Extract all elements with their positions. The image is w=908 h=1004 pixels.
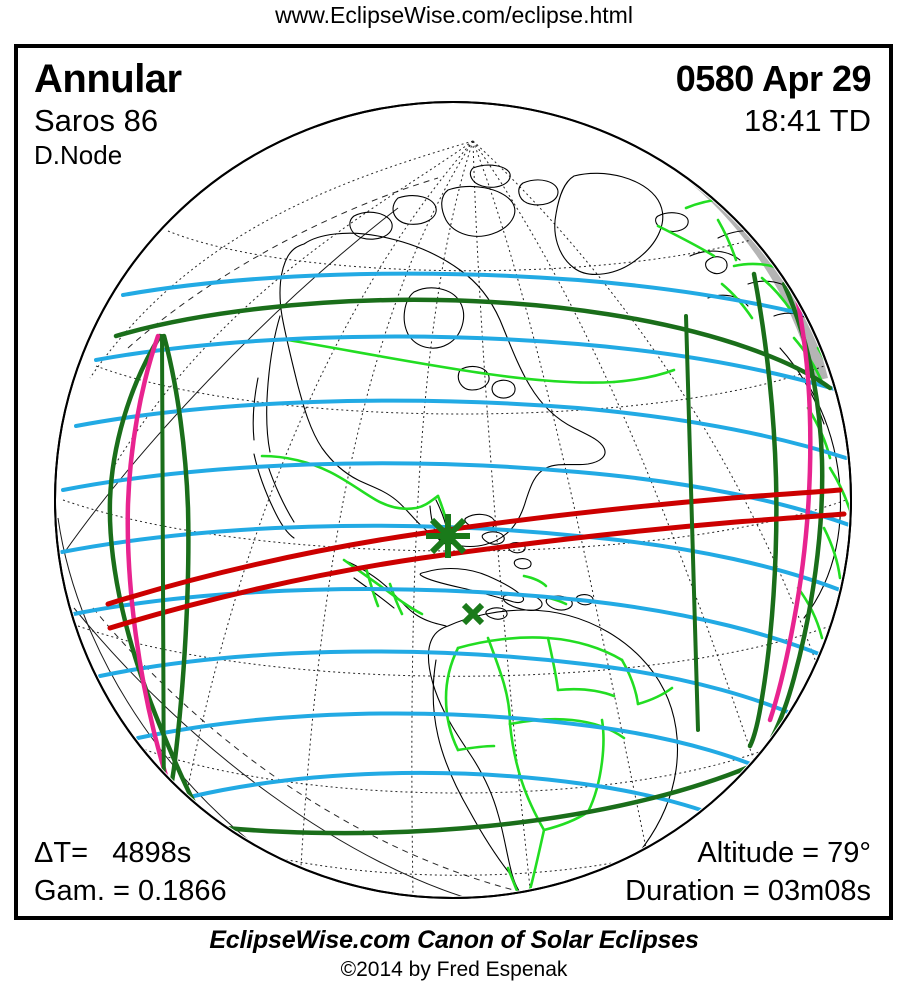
source-url-header: www.EclipseWise.com/eclipse.html: [0, 2, 908, 29]
globe-map: [18, 48, 889, 916]
footer-title: EclipseWise.com Canon of Solar Eclipses: [0, 926, 908, 955]
eclipse-date-label: 0580 Apr 29: [676, 56, 871, 102]
footer: EclipseWise.com Canon of Solar Eclipses …: [0, 926, 908, 982]
node-label: D.Node: [34, 139, 182, 172]
saros-label: Saros 86: [34, 102, 182, 139]
eclipse-summary-top-right: 0580 Apr 29 18:41 TD: [676, 56, 871, 139]
altitude-value: Altitude = 79°: [625, 834, 871, 872]
eclipse-stats-bottom-left: ΔT= 4898s Gam. = 0.1866: [34, 834, 227, 910]
eclipse-stats-bottom-right: Altitude = 79° Duration = 03m08s: [625, 834, 871, 910]
footer-credit: ©2014 by Fred Espenak: [0, 958, 908, 982]
eclipse-map-page: www.EclipseWise.com/eclipse.html: [0, 0, 908, 1004]
gamma-value: Gam. = 0.1866: [34, 872, 227, 910]
eclipse-map-frame: Annular Saros 86 D.Node 0580 Apr 29 18:4…: [14, 44, 893, 920]
delta-t-value: ΔT= 4898s: [34, 834, 227, 872]
duration-value: Duration = 03m08s: [625, 872, 871, 910]
eclipse-type-label: Annular: [34, 56, 182, 102]
eclipse-summary-top-left: Annular Saros 86 D.Node: [34, 56, 182, 172]
eclipse-time-label: 18:41 TD: [676, 102, 871, 139]
greatest-eclipse-center: [441, 529, 455, 543]
